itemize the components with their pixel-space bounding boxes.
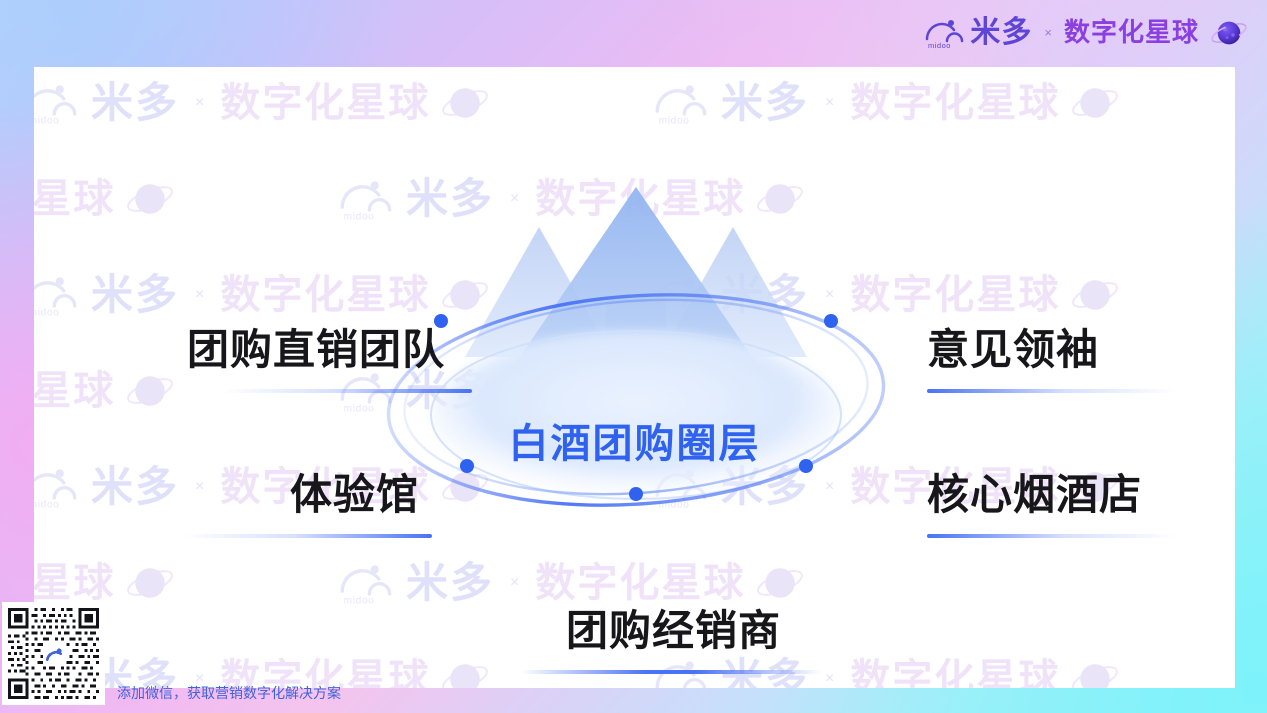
midoo-arc-logo-icon: midoo <box>925 16 967 50</box>
label-text: 团购经销商 <box>566 610 821 652</box>
watermark-partner: 数字化星球 <box>34 179 115 219</box>
midoo-arc-logo-icon: midoo <box>654 272 712 318</box>
brand-name: 米多 <box>970 18 1032 50</box>
watermark-separator: × <box>818 478 841 496</box>
midoo-arc-logo-icon: midoo <box>34 272 82 318</box>
svg-text:midoo: midoo <box>344 595 375 606</box>
watermark-separator: × <box>188 94 211 112</box>
planet-icon <box>124 365 176 417</box>
svg-text:midoo: midoo <box>344 211 375 222</box>
watermark-brand: 米多 <box>721 466 809 508</box>
planet-icon <box>1069 269 1121 321</box>
midoo-logo: midoo 米多 <box>925 16 1032 50</box>
watermark-separator: × <box>503 574 526 592</box>
orbit-node <box>824 314 838 328</box>
svg-text:midoo: midoo <box>34 307 60 318</box>
watermark-partner: 数字化星球 <box>220 275 430 315</box>
label-yijian-lingxiu: 意见领袖 <box>927 329 1177 393</box>
center-title: 白酒团购圈层 <box>34 424 1235 464</box>
header-brand: midoo 米多 × 数字化星球 <box>925 13 1249 53</box>
svg-text:midoo: midoo <box>928 41 951 50</box>
wechat-qr-block: 添加微信，获取营销数字化解决方案 <box>2 602 341 705</box>
watermark-brand: 米多 <box>91 466 179 508</box>
mountain-right-icon <box>659 227 807 357</box>
label-underline <box>222 389 472 393</box>
watermark-partner: 数字化星球 <box>535 563 745 603</box>
watermark-brand: 米多 <box>406 178 494 220</box>
watermark-separator: × <box>503 382 526 400</box>
qr-code-icon[interactable] <box>2 602 105 705</box>
midoo-arc-logo-icon: midoo <box>339 176 397 222</box>
elliptical-platform-icon <box>431 331 841 499</box>
svg-text:midoo: midoo <box>659 499 690 510</box>
qr-caption: 添加微信，获取营销数字化解决方案 <box>117 686 341 700</box>
watermark-partner: 数字化星球 <box>850 275 1060 315</box>
planet-icon <box>439 653 491 688</box>
watermark-brand: 米多 <box>406 562 494 604</box>
label-tuangou-zhixiao-tuandui: 团购直销团队 <box>187 329 472 393</box>
watermark-unit: midoo 米多 × 数字化星球 <box>34 269 654 321</box>
label-underline <box>927 389 1177 393</box>
watermark-brand: 米多 <box>721 274 809 316</box>
mountain-center-icon <box>502 187 770 383</box>
svg-text:midoo: midoo <box>659 307 690 318</box>
brand-separator: × <box>1041 25 1055 42</box>
watermark-separator: × <box>818 670 841 688</box>
planet-icon <box>1069 653 1121 688</box>
planet-icon <box>439 269 491 321</box>
svg-text:midoo: midoo <box>659 115 690 126</box>
label-text: 核心烟酒店 <box>927 474 1177 516</box>
orbit-node <box>629 487 643 501</box>
planet-icon <box>754 365 806 417</box>
watermark-partner: 数字化星球 <box>535 371 745 411</box>
label-tiyan-guan: 体验馆 <box>290 474 432 538</box>
midoo-arc-logo-icon: midoo <box>34 80 82 126</box>
watermark-row: midoo 米多 × 数字化星球 midoo <box>34 67 1235 151</box>
watermark-brand: 米多 <box>91 82 179 124</box>
watermark-partner: 数字化星球 <box>850 83 1060 123</box>
label-underline <box>521 670 821 674</box>
planet-icon <box>754 173 806 225</box>
label-underline <box>927 534 1177 538</box>
label-underline <box>182 534 432 538</box>
watermark-partner: 数字化星球 <box>34 371 115 411</box>
svg-text:midoo: midoo <box>34 499 60 510</box>
watermark-unit: midoo 米多 × 数字化星球 <box>339 173 969 225</box>
watermark-brand: 米多 <box>91 274 179 316</box>
planet-icon <box>439 77 491 129</box>
watermark-separator: × <box>188 286 211 304</box>
watermark-partner: 数字化星球 <box>850 659 1060 688</box>
slide-canvas: midoo 米多 × 数字化星球 <box>0 0 1267 713</box>
planet-icon <box>439 461 491 513</box>
slide-content-card: midoo 米多 × 数字化星球 midoo <box>34 67 1235 688</box>
planet-icon <box>124 173 176 225</box>
svg-text:midoo: midoo <box>344 403 375 414</box>
midoo-arc-logo-icon: midoo <box>654 464 712 510</box>
svg-text:midoo: midoo <box>34 115 60 126</box>
orbit-ring-outer-icon <box>381 279 890 521</box>
watermark-partner: 数字化星球 <box>220 83 430 123</box>
midoo-arc-logo-icon: midoo <box>34 464 82 510</box>
watermark-unit: midoo 米多 × 数字化星球 <box>654 269 1235 321</box>
planet-icon <box>1069 77 1121 129</box>
label-tuangou-jingxiaoshang: 团购经销商 <box>566 610 821 674</box>
watermark-separator: × <box>188 478 211 496</box>
partner-name: 数字化星球 <box>1064 19 1199 47</box>
watermark-unit: midoo 米多 × 数字化星球 <box>34 173 339 225</box>
midoo-arc-logo-icon: midoo <box>339 560 397 606</box>
arrow-stem-icon <box>606 297 666 427</box>
label-text: 团购直销团队 <box>187 329 472 371</box>
watermark-unit: midoo 米多 × 数字化星球 <box>654 77 1235 129</box>
orbit-ring-inner-icon <box>398 285 874 509</box>
watermark-brand: 米多 <box>721 82 809 124</box>
planet-icon <box>754 557 806 609</box>
label-text: 体验馆 <box>290 474 432 516</box>
label-text: 意见领袖 <box>927 329 1177 371</box>
watermark-separator: × <box>818 286 841 304</box>
planet-icon <box>1209 13 1249 53</box>
label-hexin-yanjiudian: 核心烟酒店 <box>927 474 1177 538</box>
watermark-partner: 数字化星球 <box>535 179 745 219</box>
mountain-left-icon <box>465 227 613 357</box>
watermark-unit: midoo 米多 × 数字化星球 <box>34 77 654 129</box>
midoo-arc-logo-icon: midoo <box>654 80 712 126</box>
watermark-row: midoo 米多 × 数字化星球 midoo <box>34 151 1089 247</box>
watermark-partner: 数字化星球 <box>34 563 115 603</box>
watermark-separator: × <box>503 190 526 208</box>
watermark-separator: × <box>818 94 841 112</box>
watermark-unit: midoo 米多 × 数字化星球 <box>339 557 969 609</box>
